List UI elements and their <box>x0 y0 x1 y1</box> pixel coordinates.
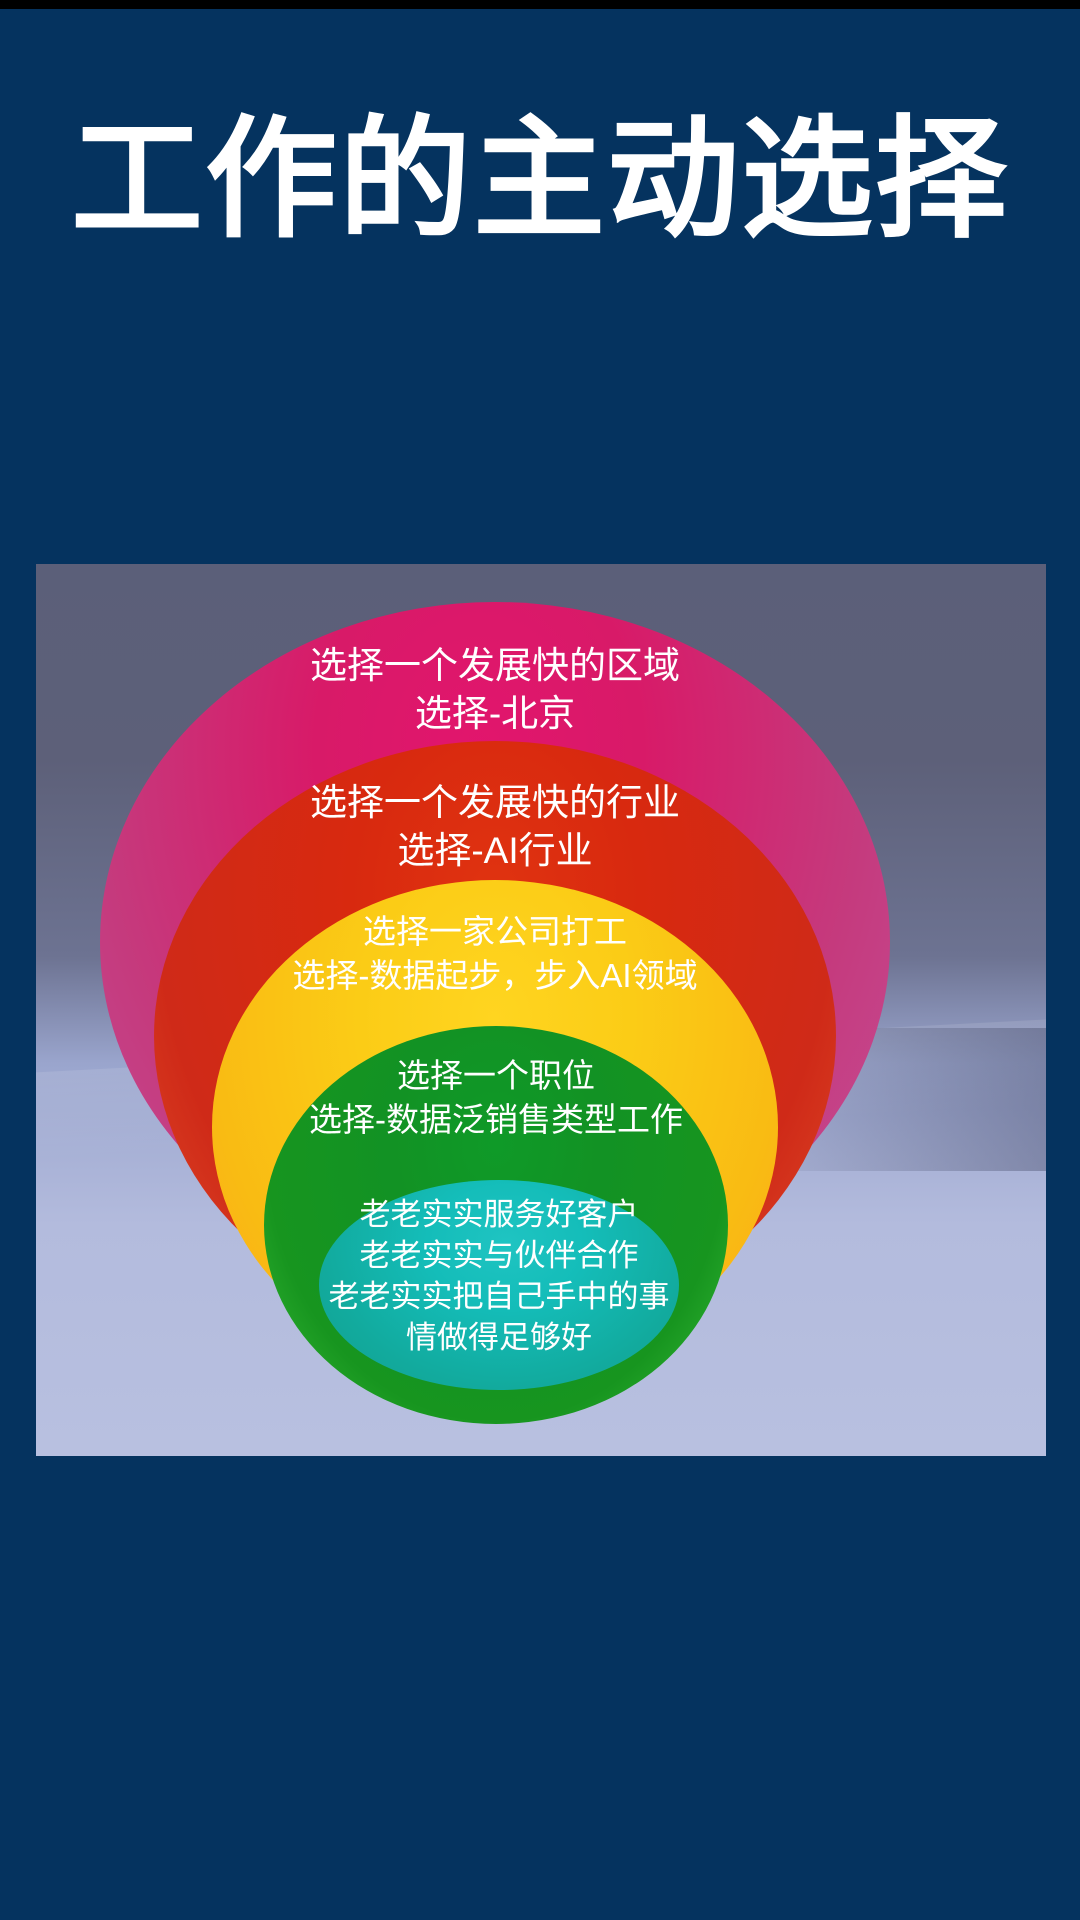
poster-root: 工作的主动选择 选择一个发展快的区域 选择-北京 选择一个发展快的行业 选择-A… <box>0 0 1080 1920</box>
page-title: 工作的主动选择 <box>0 104 1080 256</box>
ellipse-layer-execution[interactable]: 老老实实服务好客户 老老实实与伙伴合作 老老实实把自己手中的事 情做得足够好 <box>319 1180 679 1390</box>
top-letterbox-bar <box>0 0 1080 9</box>
ellipse-layer-execution-label: 老老实实服务好客户 老老实实与伙伴合作 老老实实把自己手中的事 情做得足够好 <box>319 1194 679 1358</box>
ellipse-layer-position-label: 选择一个职位 选择-数据泛销售类型工作 <box>264 1054 728 1142</box>
diagram-panel: 选择一个发展快的区域 选择-北京 选择一个发展快的行业 选择-AI行业 选择一家… <box>36 564 1046 1456</box>
ellipse-layer-industry-label: 选择一个发展快的行业 选择-AI行业 <box>154 779 836 875</box>
ellipse-layer-company-label: 选择一家公司打工 选择-数据起步，步入AI领域 <box>212 910 778 998</box>
ellipse-layer-region-label: 选择一个发展快的区域 选择-北京 <box>100 642 890 738</box>
